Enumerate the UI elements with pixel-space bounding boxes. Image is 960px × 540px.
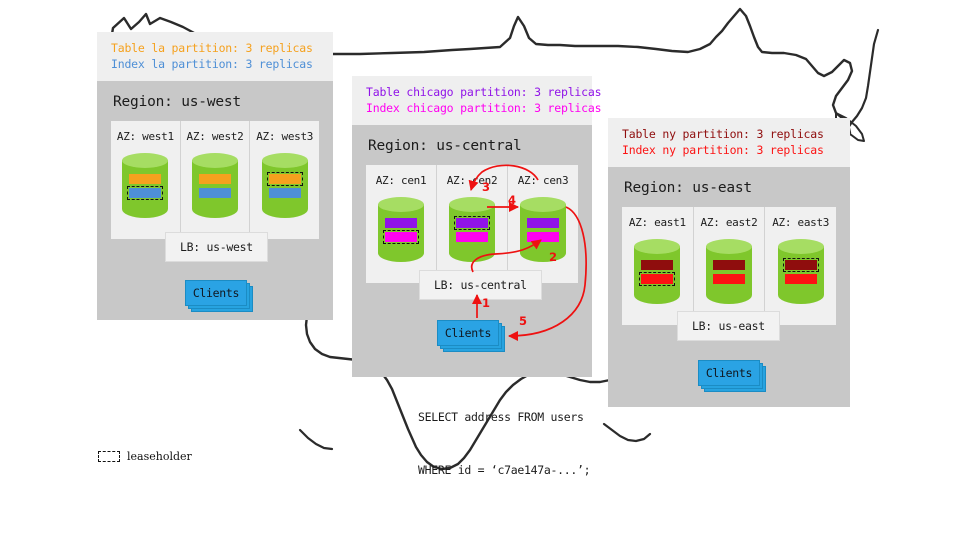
- az-cell-east1[interactable]: AZ: east1: [622, 207, 694, 325]
- index-partition-label-us-east: Index ny partition: 3 replicas: [622, 142, 838, 158]
- cylinder-cen2[interactable]: [449, 197, 495, 269]
- index-partition-label-us-west: Index la partition: 3 replicas: [111, 56, 321, 72]
- table-partition-label-us-central: Table chicago partition: 3 replicas: [366, 84, 580, 100]
- clients-label-us-west: Clients: [185, 280, 247, 306]
- replica-bar-table-east1: [641, 260, 673, 270]
- clients-us-east[interactable]: Clients: [698, 360, 760, 386]
- sql-line-2: WHERE id = ‘c7ae147a-...’;: [418, 462, 590, 480]
- replica-bar-index-east1-leaseholder: [641, 274, 673, 284]
- region-title-us-east: Region: us-east: [608, 167, 850, 207]
- partition-header-us-central: Table chicago partition: 3 replicas Inde…: [352, 76, 592, 125]
- az-label-cen3: AZ: cen3: [508, 174, 578, 187]
- clients-us-west[interactable]: Clients: [185, 280, 247, 306]
- lb-us-west[interactable]: LB: us-west: [165, 232, 268, 262]
- replica-bar-table-west3-leaseholder: [269, 174, 301, 184]
- clients-label-us-east: Clients: [698, 360, 760, 386]
- replica-bar-table-east2: [713, 260, 745, 270]
- cylinder-top: [378, 197, 424, 212]
- cylinder-west1[interactable]: [122, 153, 168, 225]
- replica-bar-index-west1-leaseholder: [129, 188, 161, 198]
- sql-query-note: SELECT address FROM users WHERE id = ‘c7…: [418, 373, 590, 516]
- flow-number-4: 4: [508, 193, 516, 207]
- table-partition-label-us-west: Table la partition: 3 replicas: [111, 40, 321, 56]
- cylinder-top: [262, 153, 308, 168]
- region-title-us-central: Region: us-central: [352, 125, 592, 165]
- lb-us-central[interactable]: LB: us-central: [419, 270, 542, 300]
- index-partition-label-us-central: Index chicago partition: 3 replicas: [366, 100, 580, 116]
- az-label-east1: AZ: east1: [622, 216, 693, 229]
- az-cell-east2[interactable]: AZ: east2: [694, 207, 766, 325]
- cylinder-cen1[interactable]: [378, 197, 424, 269]
- replica-bar-table-cen1: [385, 218, 417, 228]
- legend-leaseholder: leaseholder: [98, 450, 192, 463]
- az-row-us-west: AZ: west1 AZ: west2: [111, 121, 319, 239]
- replica-bar-index-east2: [713, 274, 745, 284]
- cylinder-east1[interactable]: [634, 239, 680, 311]
- az-label-cen2: AZ: cen2: [437, 174, 507, 187]
- replica-bar-table-cen2-leaseholder: [456, 218, 488, 228]
- replica-bar-index-cen2: [456, 232, 488, 242]
- region-title-us-west: Region: us-west: [97, 81, 333, 121]
- partition-header-us-west: Table la partition: 3 replicas Index la …: [97, 32, 333, 81]
- replica-bar-index-west3: [269, 188, 301, 198]
- az-cell-west3[interactable]: AZ: west3: [250, 121, 319, 239]
- replica-bar-table-west1: [129, 174, 161, 184]
- cylinder-top: [449, 197, 495, 212]
- az-cell-west1[interactable]: AZ: west1: [111, 121, 181, 239]
- cylinder-top: [706, 239, 752, 254]
- az-row-us-east: AZ: east1 AZ: east2: [622, 207, 836, 325]
- replica-bar-index-east3: [785, 274, 817, 284]
- flow-number-1: 1: [482, 296, 490, 310]
- flow-number-3: 3: [482, 180, 490, 194]
- region-us-west: Table la partition: 3 replicas Index la …: [97, 32, 333, 320]
- partition-header-us-east: Table ny partition: 3 replicas Index ny …: [608, 118, 850, 167]
- cylinder-west2[interactable]: [192, 153, 238, 225]
- cylinder-west3[interactable]: [262, 153, 308, 225]
- cylinder-top: [122, 153, 168, 168]
- cylinder-top: [778, 239, 824, 254]
- legend-label: leaseholder: [127, 450, 192, 463]
- replica-bar-index-cen1-leaseholder: [385, 232, 417, 242]
- az-label-west3: AZ: west3: [250, 130, 319, 143]
- az-cell-cen3[interactable]: AZ: cen3: [508, 165, 578, 283]
- replica-bar-table-west2: [199, 174, 231, 184]
- lb-us-east[interactable]: LB: us-east: [677, 311, 780, 341]
- diagram-canvas: Table la partition: 3 replicas Index la …: [0, 0, 960, 540]
- az-cell-east3[interactable]: AZ: east3: [765, 207, 836, 325]
- cylinder-east3[interactable]: [778, 239, 824, 311]
- az-label-cen1: AZ: cen1: [366, 174, 436, 187]
- replica-bar-table-east3-leaseholder: [785, 260, 817, 270]
- az-label-west1: AZ: west1: [111, 130, 180, 143]
- sql-line-1: SELECT address FROM users: [418, 409, 590, 427]
- az-cell-cen2[interactable]: AZ: cen2: [437, 165, 508, 283]
- flow-number-5: 5: [519, 314, 527, 328]
- cylinder-east2[interactable]: [706, 239, 752, 311]
- cylinder-top: [520, 197, 566, 212]
- clients-us-central[interactable]: Clients: [437, 320, 499, 346]
- az-label-east3: AZ: east3: [765, 216, 836, 229]
- cylinder-top: [634, 239, 680, 254]
- flow-number-2: 2: [549, 250, 557, 264]
- az-cell-west2[interactable]: AZ: west2: [181, 121, 251, 239]
- table-partition-label-us-east: Table ny partition: 3 replicas: [622, 126, 838, 142]
- az-label-east2: AZ: east2: [694, 216, 765, 229]
- az-label-west2: AZ: west2: [181, 130, 250, 143]
- clients-label-us-central: Clients: [437, 320, 499, 346]
- cylinder-top: [192, 153, 238, 168]
- replica-bar-index-cen3: [527, 232, 559, 242]
- cylinder-cen3[interactable]: [520, 197, 566, 269]
- dashed-rect-icon: [98, 451, 120, 462]
- replica-bar-index-west2: [199, 188, 231, 198]
- az-row-us-central: AZ: cen1 AZ: cen2: [366, 165, 578, 283]
- replica-bar-table-cen3: [527, 218, 559, 228]
- az-cell-cen1[interactable]: AZ: cen1: [366, 165, 437, 283]
